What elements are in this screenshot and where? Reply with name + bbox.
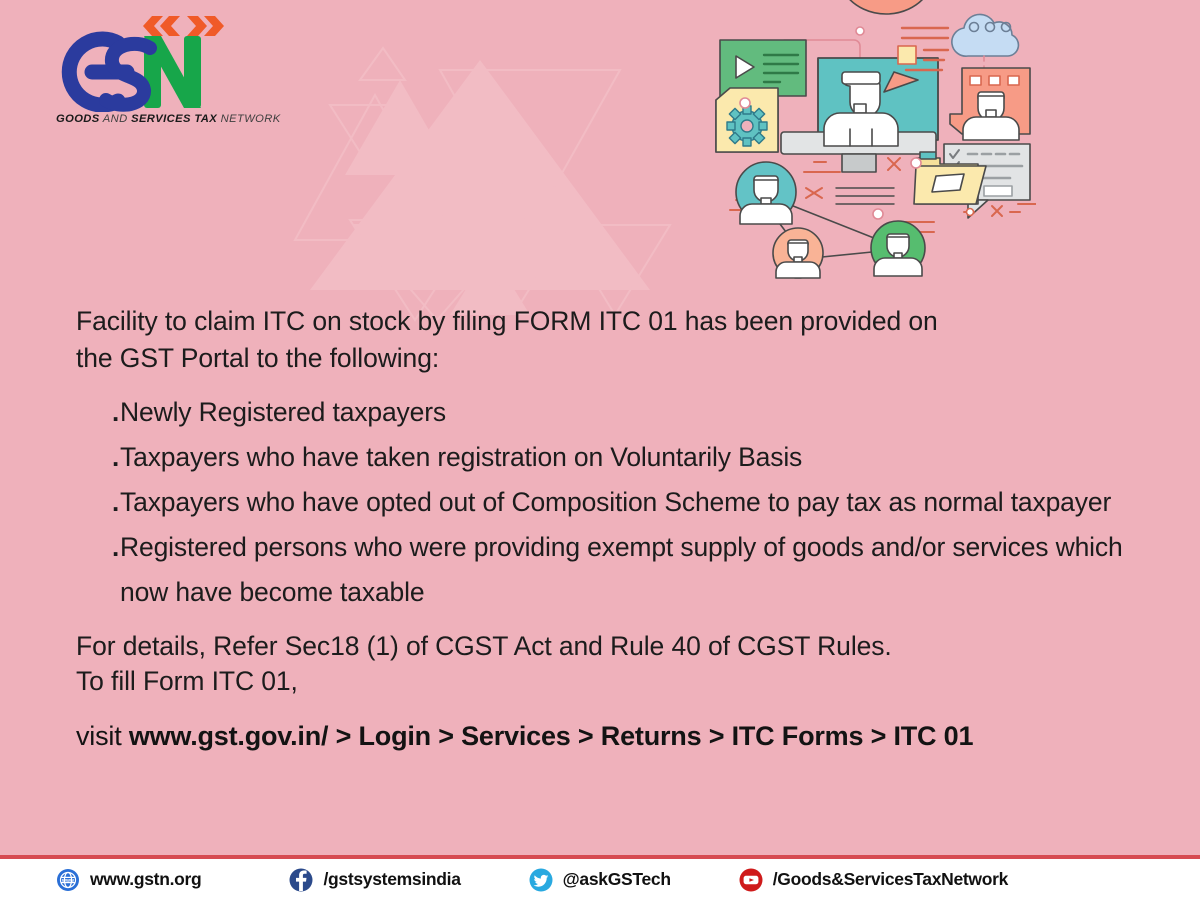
lead-paragraph: Facility to claim ITC on stock by filing… bbox=[76, 303, 1146, 377]
facebook-icon bbox=[289, 868, 313, 892]
list-item-text: Taxpayers who have opted out of Composit… bbox=[112, 480, 1146, 525]
bullet-marker: . bbox=[76, 435, 112, 480]
navigation-path: visit www.gst.gov.in/ > Login > Services… bbox=[76, 721, 1146, 752]
closing-line-1: For details, Refer Sec18 (1) of CGST Act… bbox=[76, 629, 1146, 664]
list-item: . Newly Registered taxpayers bbox=[76, 390, 1146, 435]
bullet-list: . Newly Registered taxpayers . Taxpayers… bbox=[76, 390, 1146, 615]
list-item: . Taxpayers who have opted out of Compos… bbox=[76, 480, 1146, 525]
path-steps: www.gst.gov.in/ > Login > Services > Ret… bbox=[129, 721, 973, 751]
footer-item-facebook[interactable]: /gstsystemsindia bbox=[289, 859, 460, 900]
tagline-goods: GOODS bbox=[56, 113, 100, 125]
globe-icon: www bbox=[56, 868, 80, 892]
bullet-marker: . bbox=[76, 525, 112, 615]
footer-label-facebook: /gstsystemsindia bbox=[323, 869, 460, 890]
footer-item-website[interactable]: www www.gstn.org bbox=[56, 859, 201, 900]
list-item-text: Newly Registered taxpayers bbox=[112, 390, 1146, 435]
youtube-icon bbox=[739, 868, 763, 892]
tagline-and: AND bbox=[100, 113, 131, 125]
bullet-marker: . bbox=[76, 480, 112, 525]
closing-paragraph: For details, Refer Sec18 (1) of CGST Act… bbox=[76, 629, 1146, 699]
lead-line-2: the GST Portal to the following: bbox=[76, 343, 439, 373]
closing-line-2: To fill Form ITC 01, bbox=[76, 664, 1146, 699]
list-item: . Registered persons who were providing … bbox=[76, 525, 1146, 615]
bullet-marker: . bbox=[76, 390, 112, 435]
tagline-services-tax: SERVICES TAX bbox=[131, 113, 217, 125]
footer-item-twitter[interactable]: @askGSTech bbox=[529, 859, 671, 900]
footer-label-twitter: @askGSTech bbox=[563, 869, 671, 890]
footer-label-website: www.gstn.org bbox=[90, 869, 201, 890]
main-content: Facility to claim ITC on stock by filing… bbox=[76, 303, 1146, 752]
svg-text:www: www bbox=[61, 877, 74, 883]
tagline-network: NETWORK bbox=[217, 113, 281, 125]
gst-portal-illustration bbox=[706, 0, 1036, 290]
twitter-icon bbox=[529, 868, 553, 892]
lead-line-1: Facility to claim ITC on stock by filing… bbox=[76, 306, 938, 336]
footer-label-youtube: /Goods&ServicesTaxNetwork bbox=[773, 869, 1008, 890]
gstn-logo: GOODS AND SERVICES TAX NETWORK bbox=[32, 12, 257, 122]
logo-tagline: GOODS AND SERVICES TAX NETWORK bbox=[56, 113, 281, 125]
list-item-text: Registered persons who were providing ex… bbox=[112, 525, 1146, 615]
footer-item-youtube[interactable]: /Goods&ServicesTaxNetwork bbox=[739, 859, 1008, 900]
footer-bar: www www.gstn.org /gstsystemsindia @askGS… bbox=[0, 859, 1200, 900]
path-prefix: visit bbox=[76, 721, 129, 751]
poster-canvas: GOODS AND SERVICES TAX NETWORK bbox=[0, 0, 1200, 900]
gstn-logo-mark bbox=[32, 12, 257, 112]
list-item: . Taxpayers who have taken registration … bbox=[76, 435, 1146, 480]
list-item-text: Taxpayers who have taken registration on… bbox=[112, 435, 1146, 480]
